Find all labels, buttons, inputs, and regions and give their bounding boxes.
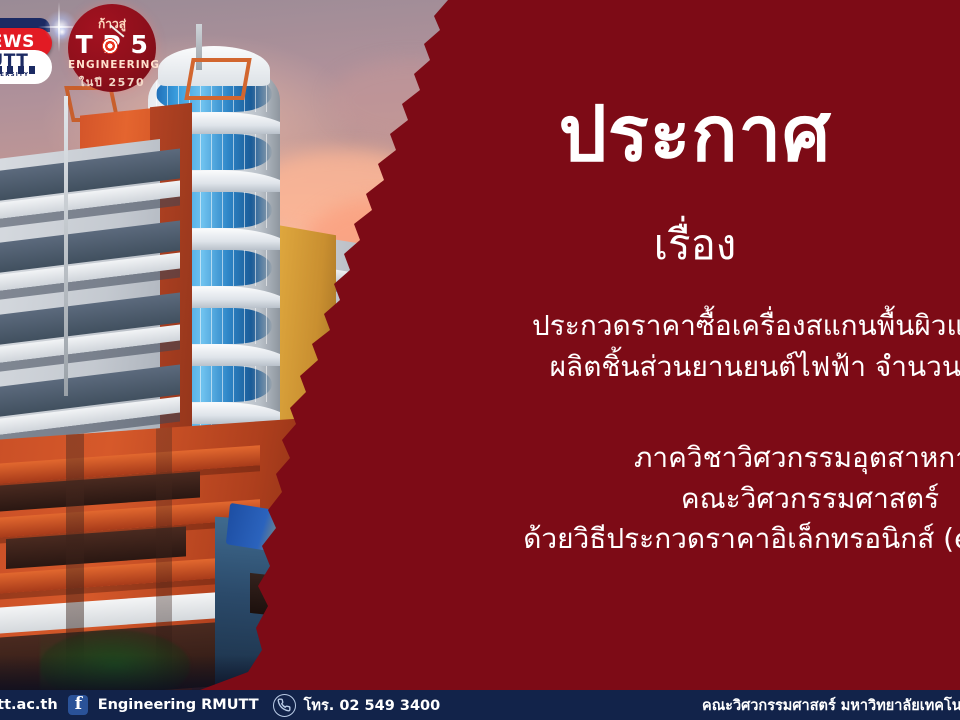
target-bullseye-icon: [102, 38, 118, 54]
building-truss: [184, 58, 251, 100]
announcement-body-bottom: ภาควิชาวิศวกรรมอุตสาหการ คณะวิศวกรรมศาสต…: [430, 438, 960, 560]
body-line: ผลิตชิ้นส่วนยานยนต์ไฟฟ้า จำนวน ๑ เครื่อง: [430, 347, 960, 388]
building-photo: [0, 0, 480, 690]
photo-bottom-shadow: [0, 655, 480, 690]
rmutt-logo-subtitle: E UNIVERSITY: [0, 72, 29, 78]
announcement-body-top: ประกวดราคาซื้อเครื่องสแกนพื้นผิวแบบสามมิ…: [430, 306, 960, 387]
building-flagpole: [64, 96, 68, 396]
top5-engineering-badge: ก้าวสู่ T P 5 ENGINEERING ในปี 2570: [68, 4, 156, 92]
footer-organization: คณะวิศวกรรมศาสตร์ มหาวิทยาลัยเทคโนโลยีรา…: [702, 698, 960, 714]
body-line: ด้วยวิธีประกวดราคาอิเล็กทรอนิกส์ (e-bidd…: [430, 519, 960, 560]
footer-phone: โทร. 02 549 3400: [304, 694, 441, 717]
body-line: คณะวิศวกรรมศาสตร์: [430, 479, 960, 520]
page-title: ประกาศ: [430, 96, 960, 172]
facebook-icon[interactable]: [68, 695, 88, 715]
footer-website[interactable]: r.rmutt.ac.th: [0, 697, 58, 713]
phone-icon[interactable]: [273, 694, 296, 717]
top5-year-label: ในปี 2570: [68, 73, 156, 91]
body-line: ประกวดราคาซื้อเครื่องสแกนพื้นผิวแบบสามมิ…: [430, 306, 960, 347]
footer-left-group: r.rmutt.ac.th Engineering RMUTT โทร. 02 …: [0, 694, 440, 717]
top5-discipline-label: ENGINEERING: [68, 59, 156, 71]
footer-bar: r.rmutt.ac.th Engineering RMUTT โทร. 02 …: [0, 690, 960, 720]
subject-label: เรื่อง: [430, 222, 960, 268]
footer-right-group: คณะวิศวกรรมศาสตร์ มหาวิทยาลัยเทคโนโลยีรา…: [702, 694, 960, 717]
news-logo-label: NEWS: [0, 32, 35, 52]
announcement-text: ประกาศ เรื่อง ประกวดราคาซื้อเครื่องสแกนพ…: [430, 0, 960, 690]
body-line: ภาควิชาวิศวกรรมอุตสาหการ: [430, 438, 960, 479]
announcement-poster: ประกาศ เรื่อง ประกวดราคาซื้อเครื่องสแกนพ…: [0, 0, 960, 720]
footer-facebook-page[interactable]: Engineering RMUTT: [98, 697, 259, 713]
